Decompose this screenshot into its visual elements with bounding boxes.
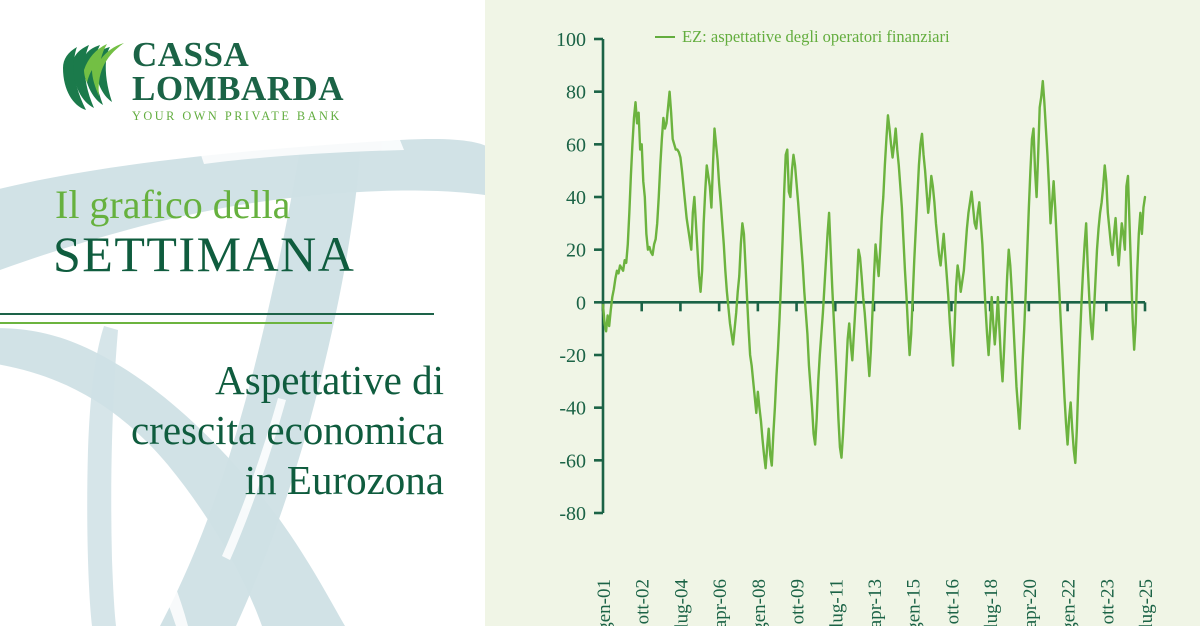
svg-text:gen-01: gen-01 (594, 579, 615, 626)
chart-plot: 100806040200-20-40-60-80 gen-01ott-02lug… (485, 0, 1200, 626)
svg-text:gen-15: gen-15 (904, 579, 925, 626)
chart-panel: EZ: aspettative degli operatori finanzia… (485, 0, 1200, 626)
subtitle-line-1: Aspettative di (0, 355, 444, 405)
branding-panel: CASSA LOMBARDA YOUR OWN PRIVATE BANK Il … (0, 0, 500, 626)
brand-name-line1: CASSA (132, 38, 347, 72)
svg-text:-80: -80 (559, 503, 586, 525)
svg-text:0: 0 (576, 292, 586, 314)
svg-text:60: 60 (566, 134, 586, 156)
svg-text:100: 100 (556, 29, 586, 51)
svg-text:gen-08: gen-08 (749, 579, 770, 626)
svg-text:20: 20 (566, 240, 586, 262)
svg-text:lug-11: lug-11 (826, 579, 847, 626)
svg-text:apr-13: apr-13 (865, 579, 886, 626)
y-axis: 100806040200-20-40-60-80 (556, 29, 1145, 525)
brand-name-line2: LOMBARDA (132, 72, 347, 106)
series-layer (603, 81, 1145, 468)
headline-main: SETTIMANA (0, 226, 460, 282)
svg-text:ott-09: ott-09 (788, 579, 809, 624)
subtitle-line-3: in Eurozona (0, 455, 444, 505)
svg-text:ott-16: ott-16 (942, 579, 963, 624)
divider-dark (0, 313, 434, 315)
x-axis: gen-01ott-02lug-04apr-06gen-08ott-09lug-… (594, 302, 1157, 626)
svg-text:-40: -40 (559, 398, 586, 420)
headline-kicker: Il grafico della (0, 183, 460, 226)
divider-light (0, 322, 332, 324)
subtitle-block: Aspettative di crescita economica in Eur… (0, 355, 444, 505)
svg-text:lug-18: lug-18 (981, 579, 1002, 626)
svg-text:-20: -20 (559, 345, 586, 367)
svg-text:80: 80 (566, 82, 586, 104)
svg-text:gen-22: gen-22 (1059, 579, 1080, 626)
svg-text:40: 40 (566, 187, 586, 209)
svg-text:apr-20: apr-20 (1020, 579, 1041, 626)
svg-text:-60: -60 (559, 450, 586, 472)
leaf-wheat-mark-icon (60, 40, 126, 112)
svg-text:apr-06: apr-06 (710, 579, 731, 626)
svg-text:ott-02: ott-02 (633, 579, 654, 624)
headline-block: Il grafico della SETTIMANA (0, 183, 460, 282)
subtitle-line-2: crescita economica (0, 405, 444, 455)
brand-logo: CASSA LOMBARDA YOUR OWN PRIVATE BANK (60, 38, 350, 130)
brand-wordmark: CASSA LOMBARDA YOUR OWN PRIVATE BANK (132, 38, 347, 124)
svg-text:lug-04: lug-04 (671, 579, 692, 626)
infographic-root: CASSA LOMBARDA YOUR OWN PRIVATE BANK Il … (0, 0, 1200, 626)
svg-text:lug-25: lug-25 (1136, 579, 1157, 626)
brand-tagline: YOUR OWN PRIVATE BANK (132, 109, 347, 124)
svg-text:ott-23: ott-23 (1097, 579, 1118, 624)
